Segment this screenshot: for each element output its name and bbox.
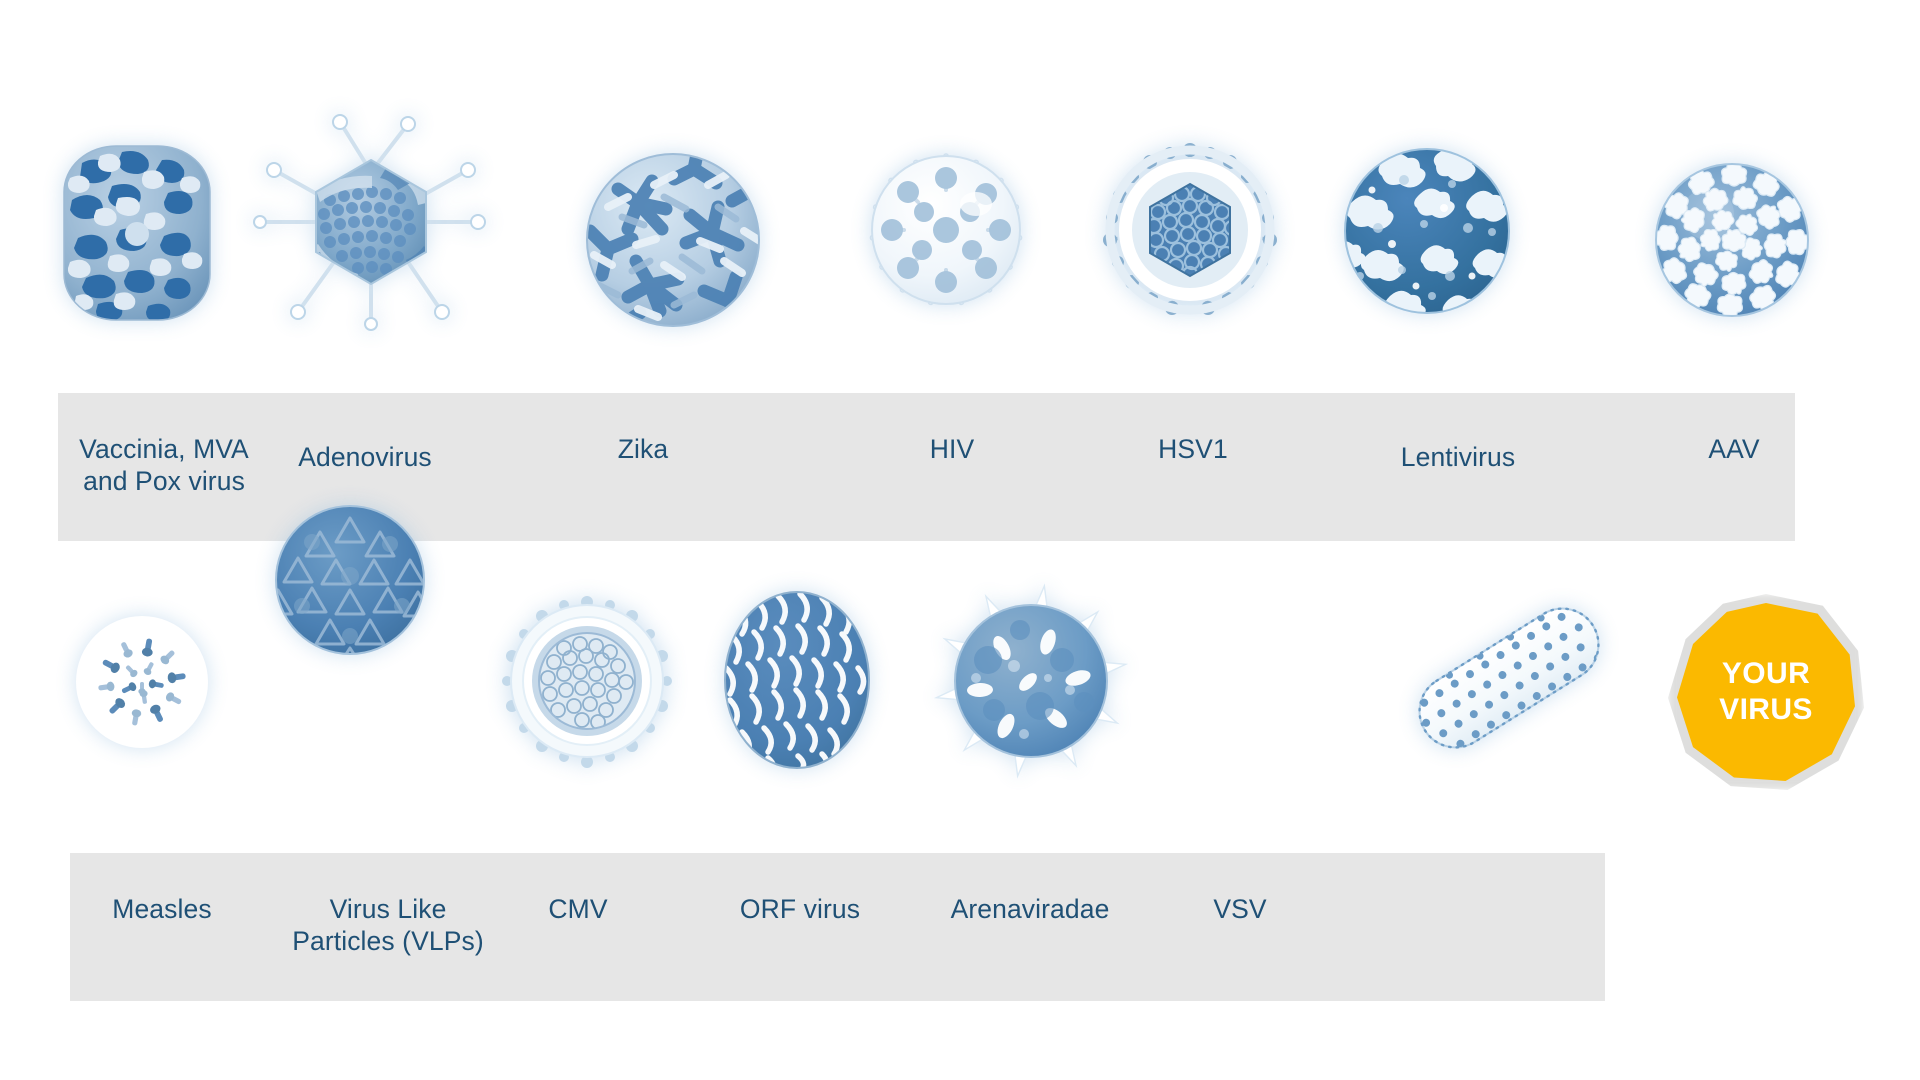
label-arenaviradae: Arenaviradae [920, 893, 1140, 925]
badge-text: YOUR VIRUS [1719, 656, 1813, 728]
label-cmv: CMV [498, 893, 658, 925]
label-hiv: HIV [872, 433, 1032, 465]
figure-canvas: Vaccinia, MVA and Pox virus Adenovirus Z… [0, 0, 1920, 1080]
arenaviradae-virus-illustration [936, 586, 1126, 776]
lentivirus-illustration [1332, 136, 1522, 326]
label-vlp: Virus Like Particles (VLPs) [258, 893, 518, 957]
label-vsv: VSV [1170, 893, 1310, 925]
hiv-virus-illustration [848, 132, 1044, 328]
your-virus-badge[interactable]: YOUR VIRUS [1668, 594, 1864, 790]
zika-virus-illustration [578, 145, 768, 335]
adenovirus-illustration [258, 112, 484, 328]
vaccinia-virus-illustration [52, 138, 222, 328]
vlp-illustration [250, 480, 450, 680]
label-aav: AAV [1664, 433, 1804, 465]
label-zika: Zika [563, 433, 723, 465]
label-measles: Measles [62, 893, 262, 925]
hsv1-virus-illustration [1092, 132, 1288, 328]
vsv-virus-illustration [1394, 578, 1624, 778]
label-adenovirus: Adenovirus [240, 441, 490, 473]
cmv-virus-illustration [492, 586, 682, 776]
label-lentivirus: Lentivirus [1368, 441, 1548, 473]
aav-virus-illustration [1648, 156, 1816, 324]
label-orf: ORF virus [710, 893, 890, 925]
label-hsv1: HSV1 [1113, 433, 1273, 465]
measles-virus-illustration [42, 582, 242, 782]
orf-virus-illustration [712, 580, 882, 780]
